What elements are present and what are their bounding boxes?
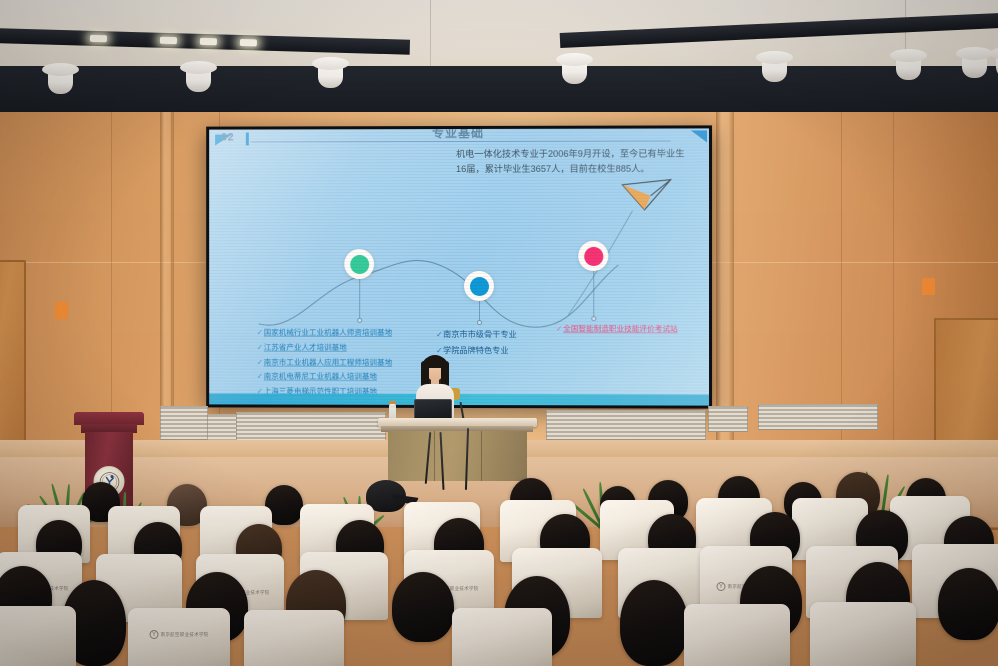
auditorium-seat[interactable]: Y 南京航空职业技术学院 (128, 608, 230, 666)
ceiling-light-track-right (560, 12, 998, 48)
exit-sign-right (922, 278, 935, 295)
list-item: ✓国家机械行业工业机器人师资培训基地 (257, 326, 456, 341)
list-item: ✓江苏省产业人才培训基地 (257, 341, 456, 356)
slide-column-exam-station: ✓全国智能制造职业技能评价考试站 (556, 322, 707, 337)
ceiling-spotlight (762, 56, 787, 82)
school-logo-mark-icon: Y (717, 582, 726, 591)
presenter-desk-front (388, 431, 527, 481)
air-vent-4 (708, 406, 748, 432)
ceiling-spotlight (48, 68, 73, 94)
ceiling-track-light (240, 39, 257, 46)
ceiling-light-track-left (0, 28, 410, 55)
air-vent-5 (758, 404, 878, 430)
air-vent-left-of-screen (160, 406, 208, 440)
wave-node-green (344, 249, 374, 279)
audience-head (620, 580, 688, 666)
check-icon: ✓ (257, 326, 264, 341)
check-icon: ✓ (257, 370, 264, 385)
air-vent-3 (546, 410, 706, 440)
ceiling-spotlight (896, 54, 921, 80)
audience-head (392, 572, 454, 642)
list-item: ✓全国智能制造职业技能评价考试站 (556, 322, 707, 337)
ceiling-spotlight (562, 58, 587, 84)
seat-brand-logo: Y 南京航空职业技术学院 (150, 630, 209, 639)
ceiling-spotlight (318, 62, 343, 88)
school-logo-mark-icon: Y (150, 630, 159, 639)
ceiling-spotlight (186, 66, 211, 92)
audience-head (938, 568, 998, 640)
check-icon: ✓ (436, 327, 443, 343)
ceiling-track-light (90, 35, 107, 42)
list-item: ✓南京市市级骨干专业 (436, 327, 556, 343)
auditorium-seat[interactable] (244, 610, 344, 666)
ceiling (0, 0, 998, 118)
projection-screen: 02 专业基础 机电一体化技术专业于2006年9月开设，至今已有毕业生16届，累… (206, 125, 712, 408)
ceiling-track-light (160, 37, 177, 44)
school-logo-text: 南京航空职业技术学院 (161, 632, 209, 638)
air-vent-2 (236, 412, 386, 442)
auditorium-seat[interactable] (452, 608, 552, 666)
check-icon: ✓ (257, 341, 264, 356)
auditorium-seat[interactable] (0, 606, 76, 666)
ceiling-track-light (200, 38, 217, 45)
presentation-slide: 02 专业基础 机电一体化技术专业于2006年9月开设，至今已有毕业生16届，累… (209, 128, 709, 405)
auditorium-seat[interactable] (810, 602, 916, 666)
check-icon: ✓ (257, 355, 264, 370)
auditorium-scene: 02 专业基础 机电一体化技术专业于2006年9月开设，至今已有毕业生16届，累… (0, 0, 998, 666)
auditorium-seat[interactable] (684, 604, 790, 666)
check-icon: ✓ (556, 322, 563, 337)
ceiling-dark-band (0, 66, 998, 118)
exit-sign-left (55, 302, 68, 319)
ceiling-spotlight (962, 52, 987, 78)
wave-node-blue (464, 271, 494, 301)
wave-node-pink (578, 241, 608, 271)
